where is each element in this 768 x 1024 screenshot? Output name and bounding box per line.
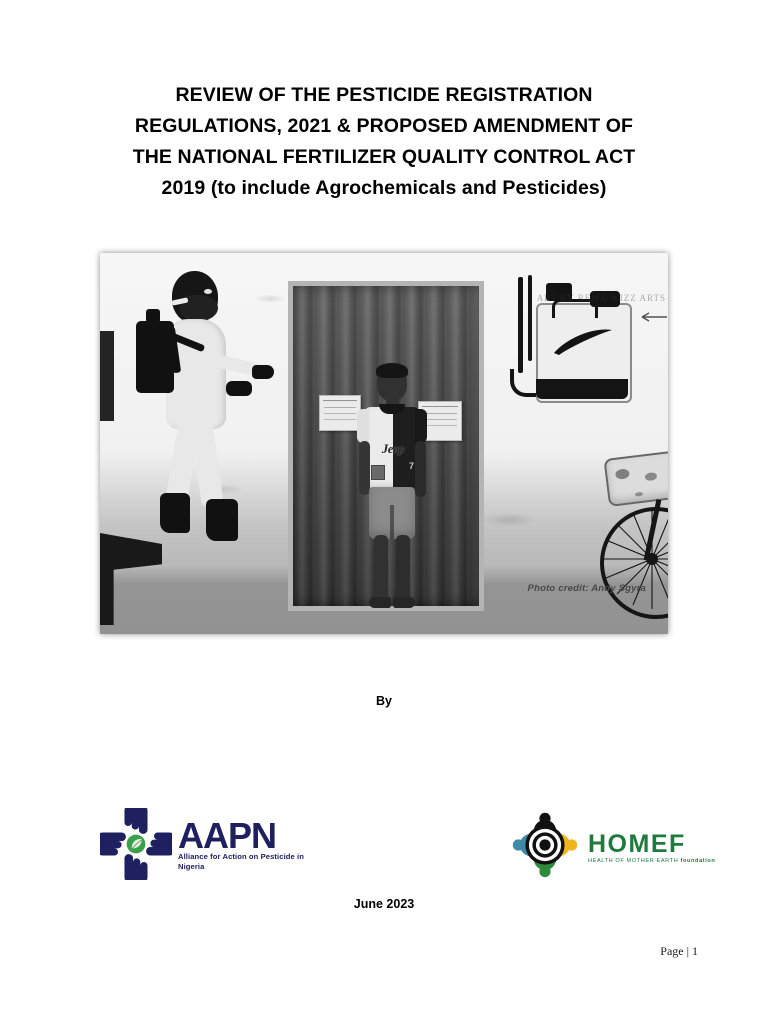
door-poster-left bbox=[319, 395, 361, 431]
homef-tagline-word: foundation bbox=[681, 858, 716, 864]
mural-sprayer-person bbox=[130, 271, 270, 541]
title-line-4: 2019 (to include Agrochemicals and Pesti… bbox=[64, 173, 704, 204]
bicycle-hub bbox=[646, 553, 658, 565]
homef-tagline: HEALTH OF MOTHER EARTH foundation bbox=[588, 858, 715, 864]
logo-row: AAPN Alliance for Action on Pesticide in… bbox=[0, 800, 768, 896]
mural-person-respirator-mask bbox=[180, 295, 218, 321]
boy-hair bbox=[376, 363, 408, 378]
photo-credit: Photo credit: Andy Sgyra bbox=[528, 583, 646, 594]
swoosh-icon bbox=[552, 329, 614, 357]
mural-person-boot-back bbox=[160, 493, 190, 533]
page-number-footer: Page | 1 bbox=[660, 944, 698, 959]
sprayer-tank-base bbox=[536, 379, 628, 399]
aapn-hands-leaf-icon bbox=[100, 808, 172, 880]
aapn-logo: AAPN Alliance for Action on Pesticide in… bbox=[100, 808, 306, 880]
bicycle bbox=[592, 449, 668, 634]
aapn-wordmark: AAPN Alliance for Action on Pesticide in… bbox=[178, 817, 306, 871]
boy-figure: 7 Jeep bbox=[357, 365, 427, 617]
mural-person-leg-front bbox=[190, 420, 224, 508]
boy-sleeve-left bbox=[357, 409, 369, 443]
boy-leg-right bbox=[396, 535, 410, 601]
homef-target-people-icon bbox=[510, 810, 580, 880]
homef-acronym: HOMEF bbox=[588, 832, 715, 857]
mural-person-eye bbox=[204, 289, 212, 294]
sprayer-wand bbox=[518, 277, 523, 373]
jersey-number: 7 bbox=[409, 461, 414, 471]
mural-person-boot-front bbox=[206, 499, 238, 541]
boy-foot-left bbox=[369, 597, 391, 608]
mural-person-glove-right bbox=[252, 365, 274, 379]
cover-photo-scene: 7 Jeep bbox=[100, 253, 668, 634]
mural-person-glove-left bbox=[226, 381, 252, 396]
cover-photo: 7 Jeep bbox=[100, 253, 668, 634]
bicycle-rear-rack bbox=[603, 447, 668, 507]
boy-foot-right bbox=[393, 597, 415, 608]
title-line-3: THE NATIONAL FERTILIZER QUALITY CONTROL … bbox=[64, 142, 704, 173]
sprayer-pump-rod bbox=[528, 275, 532, 361]
homef-wordmark: HOMEF HEALTH OF MOTHER EARTH foundation bbox=[588, 826, 715, 864]
jersey-badge bbox=[371, 465, 385, 480]
wall-scribble-text: ART BY REWZ WIZZ ARTS bbox=[537, 293, 666, 304]
boy-sleeve-right bbox=[415, 409, 427, 443]
boy-shorts bbox=[369, 487, 415, 539]
boy-arm-left bbox=[359, 441, 370, 495]
jersey-sponsor-text: Jeep bbox=[369, 441, 417, 457]
title-line-2: REGULATIONS, 2021 & PROPOSED AMENDMENT O… bbox=[64, 111, 704, 142]
title-line-1: REVIEW OF THE PESTICIDE REGISTRATION bbox=[64, 80, 704, 111]
by-label: By bbox=[0, 694, 768, 708]
homef-logo: HOMEF HEALTH OF MOTHER EARTH foundation bbox=[510, 810, 715, 880]
aapn-acronym: AAPN bbox=[178, 819, 306, 853]
homef-tagline-caps: HEALTH OF MOTHER EARTH bbox=[588, 858, 678, 864]
publication-date: June 2023 bbox=[0, 897, 768, 911]
aapn-tagline: Alliance for Action on Pesticide in Nige… bbox=[178, 852, 306, 871]
wall-post bbox=[100, 331, 114, 421]
boy-arm-right bbox=[415, 441, 426, 497]
boy-leg-left bbox=[374, 535, 388, 601]
page-title: REVIEW OF THE PESTICIDE REGISTRATION REG… bbox=[64, 80, 704, 204]
arrow-left-icon bbox=[634, 311, 668, 323]
